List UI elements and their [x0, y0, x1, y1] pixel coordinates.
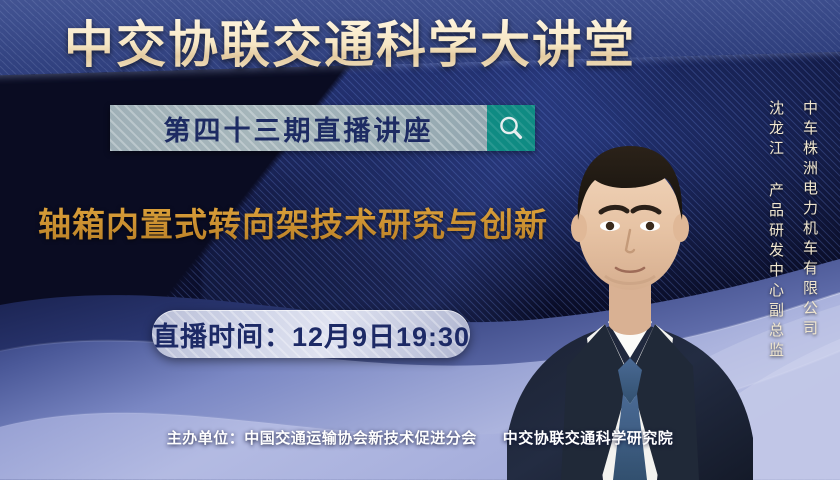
time-prefix: 直播时间： [152, 322, 292, 352]
series-banner: 第四十三期直播讲座 [110, 105, 535, 151]
organizer-footer: 主办单位：中国交通运输协会新技术促进分会中交协联交通科学研究院 [0, 427, 840, 448]
time-value: 12月9日19:30 [292, 322, 470, 352]
page-title: 中交协联交通科学大讲堂 [0, 18, 700, 73]
lecture-topic: 轴箱内置式转向架技术研究与创新 [38, 198, 548, 246]
broadcast-time-label: 直播时间：12月9日19:30 [152, 315, 470, 354]
series-banner-body: 第四十三期直播讲座 [110, 105, 487, 151]
organizer-name-2: 中交协联交通科学研究院 [503, 427, 674, 448]
organizer-prefix: 主办单位： [167, 427, 245, 448]
speaker-company: 中车株洲电力机车有限公司 [800, 100, 818, 340]
live-stream-poster: 中交协联交通科学大讲堂 第四十三期直播讲座 轴箱内置式转向架技术研究与创新 直播… [0, 0, 840, 480]
speaker-name-title: 沈龙江 产品研发中心副总监 [766, 100, 784, 362]
speaker-portrait [505, 108, 755, 480]
search-icon [487, 105, 535, 151]
organizer-name-1: 中国交通运输协会新技术促进分会 [244, 427, 477, 448]
broadcast-time-badge: 直播时间：12月9日19:30 [152, 310, 470, 358]
series-label: 第四十三期直播讲座 [164, 109, 434, 148]
